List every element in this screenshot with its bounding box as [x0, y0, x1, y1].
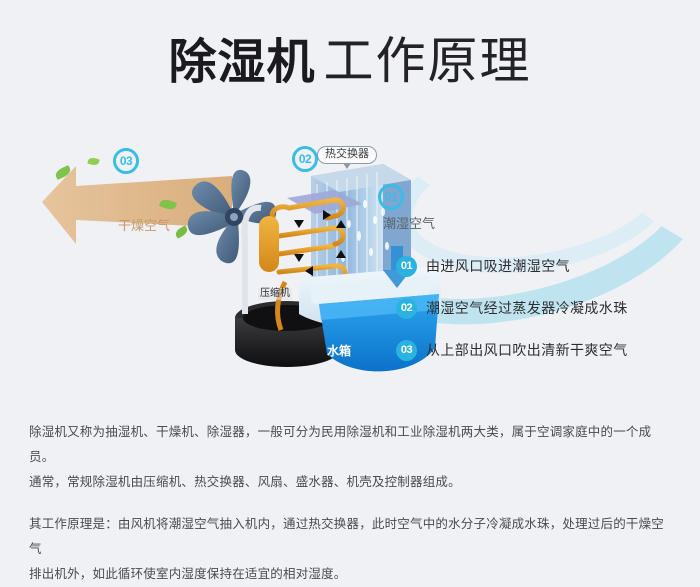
water-tank-label: 水箱: [327, 345, 351, 357]
heat-exchanger-tag: 热交换器: [317, 146, 377, 164]
legend-list: 01 由进风口吸进潮湿空气 02 潮湿空气经过蒸发器冷凝成水珠 03 从上部出风…: [396, 255, 686, 381]
dry-air-label: 干燥空气: [118, 215, 170, 234]
page-root: 除湿机工作原理 03 干燥空气: [0, 0, 700, 566]
legend-item: 03 从上部出风口吹出清新干爽空气: [396, 339, 686, 361]
legend-badge-03: 03: [396, 340, 417, 361]
heat-exchanger-badge: 02: [292, 146, 318, 172]
body-copy: 除湿机又称为抽湿机、干燥机、除湿器，一般可分为民用除湿机和工业除湿机两大类，属于…: [29, 420, 674, 587]
title-bold-part: 除湿机: [168, 36, 315, 89]
legend-item: 01 由进风口吸进潮湿空气: [396, 255, 686, 277]
title-light-part: 工作原理: [324, 33, 532, 89]
legend-text-03: 从上部出风口吹出清新干爽空气: [426, 340, 628, 360]
legend-badge-02: 02: [396, 298, 417, 319]
page-title: 除湿机工作原理: [0, 36, 700, 87]
legend-badge-01: 01: [396, 256, 417, 277]
humid-air-badge: 01: [378, 184, 404, 210]
humid-air-label: 潮湿空气: [383, 213, 435, 232]
paragraph1-line1: 除湿机又称为抽湿机、干燥机、除湿器，一般可分为民用除湿机和工业除湿机两大类，属于…: [29, 420, 674, 470]
paragraph2-line1: 其工作原理是：由风机将潮湿空气抽入机内，通过热交换器，此时空气中的水分子冷凝成水…: [29, 512, 674, 562]
compressor-label: 压缩机: [258, 288, 292, 300]
legend-item: 02 潮湿空气经过蒸发器冷凝成水珠: [396, 297, 686, 319]
legend-text-01: 由进风口吸进潮湿空气: [426, 256, 570, 276]
paragraph-gap: [29, 495, 674, 512]
dry-air-badge: 03: [113, 148, 139, 174]
legend-text-02: 潮湿空气经过蒸发器冷凝成水珠: [426, 298, 628, 318]
paragraph1-line2: 通常，常规除湿机由压缩机、热交换器、风扇、盛水器、机壳及控制器组成。: [29, 470, 674, 495]
